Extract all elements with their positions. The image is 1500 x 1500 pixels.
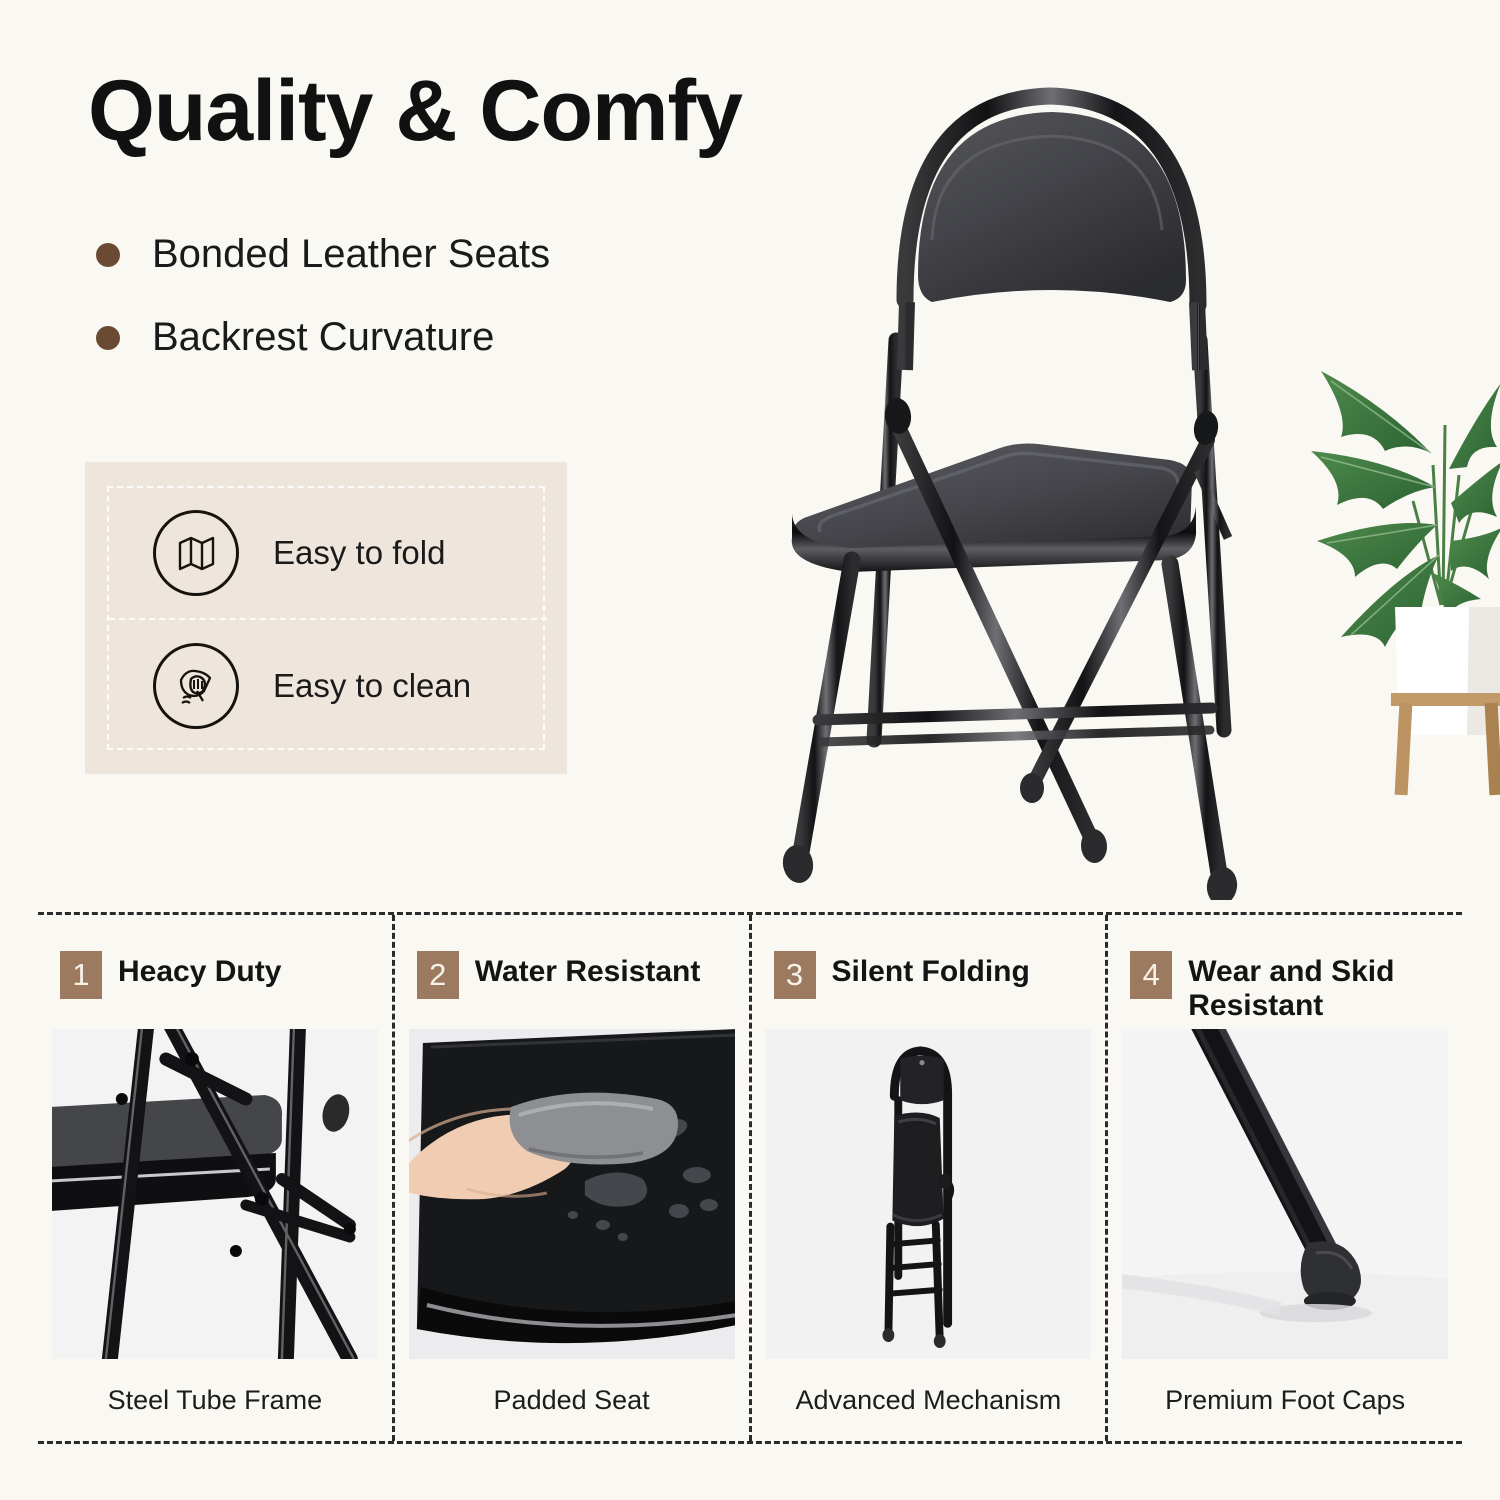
panel-header: 4 Wear and Skid Resistant — [1108, 915, 1462, 1023]
feature-callout-box: Easy to fold Easy to clean — [85, 462, 567, 774]
feature-label: Easy to clean — [273, 667, 471, 705]
panel-number-badge: 1 — [60, 951, 102, 999]
panel-caption: Advanced Mechanism — [752, 1359, 1106, 1416]
panel-silent-folding: 3 Silent Folding — [752, 915, 1109, 1441]
feature-panel-strip: 1 Heacy Duty — [38, 912, 1462, 1444]
page-title: Quality & Comfy — [88, 62, 742, 161]
list-item: Bonded Leather Seats — [96, 232, 550, 277]
panel-water-resistant: 2 Water Resistant — [395, 915, 752, 1441]
panel-wear-skid-resistant: 4 Wear and Skid Resistant — [1108, 915, 1462, 1441]
panel-thumbnail-frame-steel — [52, 1029, 378, 1359]
panel-header: 1 Heacy Duty — [38, 915, 392, 1023]
decor-plant-image — [1245, 255, 1500, 815]
panel-thumbnail-folded-chair — [766, 1029, 1092, 1359]
panel-caption: Padded Seat — [395, 1359, 749, 1416]
panel-caption: Steel Tube Frame — [38, 1359, 392, 1416]
panel-title: Heacy Duty — [118, 951, 281, 989]
panel-title: Silent Folding — [832, 951, 1030, 989]
panel-number-badge: 3 — [774, 951, 816, 999]
panel-title: Wear and Skid Resistant — [1188, 951, 1462, 1022]
panel-title: Water Resistant — [475, 951, 701, 989]
product-infographic: Quality & Comfy Bonded Leather Seats Bac… — [0, 0, 1500, 1500]
feature-bullet-list: Bonded Leather Seats Backrest Curvature — [96, 232, 550, 398]
hero-section: Quality & Comfy Bonded Leather Seats Bac… — [0, 0, 1500, 900]
hand-wipe-icon — [153, 643, 239, 729]
feature-callout-inner: Easy to fold Easy to clean — [107, 486, 545, 750]
feature-label: Easy to fold — [273, 534, 445, 572]
panel-heavy-duty: 1 Heacy Duty — [38, 915, 395, 1441]
product-hero-image — [700, 40, 1340, 900]
fold-map-icon — [153, 510, 239, 596]
panel-thumbnail-water-wipe — [409, 1029, 735, 1359]
feature-row-clean: Easy to clean — [109, 620, 547, 752]
panel-number-badge: 4 — [1130, 951, 1172, 999]
bullet-label: Bonded Leather Seats — [152, 232, 550, 277]
list-item: Backrest Curvature — [96, 315, 550, 360]
panel-header: 3 Silent Folding — [752, 915, 1106, 1023]
panel-thumbnail-foot-cap — [1122, 1029, 1448, 1359]
panel-caption: Premium Foot Caps — [1108, 1359, 1462, 1416]
panel-number-badge: 2 — [417, 951, 459, 999]
bullet-dot-icon — [96, 243, 120, 267]
bullet-dot-icon — [96, 326, 120, 350]
bullet-label: Backrest Curvature — [152, 315, 494, 360]
feature-row-fold: Easy to fold — [109, 488, 547, 620]
panel-header: 2 Water Resistant — [395, 915, 749, 1023]
